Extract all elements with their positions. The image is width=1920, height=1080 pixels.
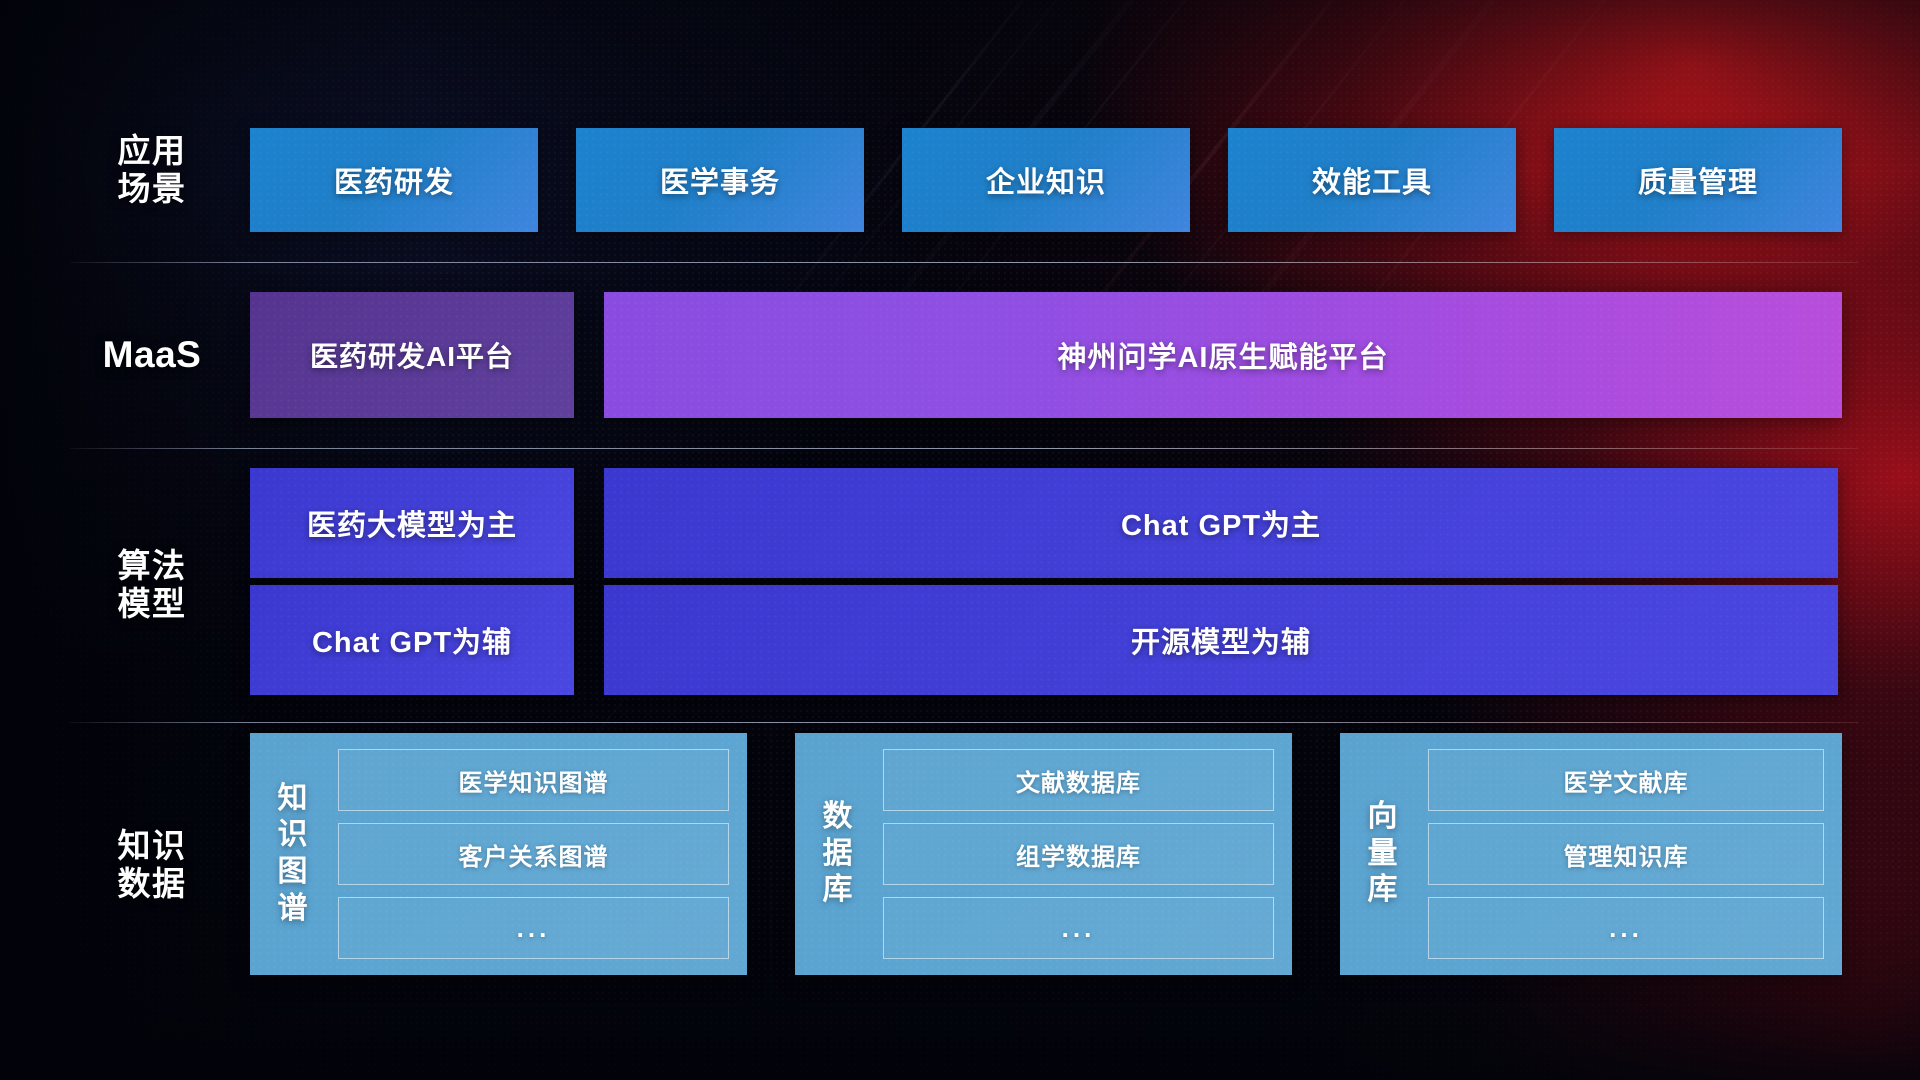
- maas-card-pharma-ai-platform[interactable]: 医药研发AI平台: [250, 292, 574, 418]
- divider-row-2: [70, 448, 1858, 449]
- knowledge-group-graph[interactable]: 知 识 图 谱 医学知识图谱 客户关系图谱 ...: [250, 733, 747, 975]
- knowledge-group-title-char: 图: [278, 854, 309, 891]
- rail-line: 数据: [118, 865, 187, 903]
- app-card-medaffairs[interactable]: 医学事务: [576, 128, 864, 232]
- knowledge-item[interactable]: 医学知识图谱: [338, 749, 729, 811]
- algo-card-label: Chat GPT为主: [1121, 502, 1321, 544]
- rail-algorithm-model: 算法 模型: [84, 500, 220, 670]
- knowledge-group-title-char: 识: [278, 817, 309, 854]
- algo-card-label: Chat GPT为辅: [312, 619, 512, 661]
- knowledge-group-title-char: 据: [823, 836, 854, 873]
- rail-line: 应用: [118, 132, 187, 170]
- knowledge-group-items: 医学知识图谱 客户关系图谱 ...: [338, 749, 729, 959]
- divider-row-1: [70, 262, 1858, 263]
- architecture-diagram: 应用 场景 医药研发 医学事务 企业知识 效能工具 质量管理 MaaS 医药研发…: [0, 0, 1920, 1080]
- knowledge-item[interactable]: 文献数据库: [883, 749, 1274, 811]
- knowledge-group-database[interactable]: 数 据 库 文献数据库 组学数据库 ...: [795, 733, 1292, 975]
- knowledge-group-title-char: 谱: [278, 891, 309, 928]
- app-card-label: 质量管理: [1638, 159, 1758, 201]
- algo-card-label: 开源模型为辅: [1131, 619, 1311, 661]
- rail-line: MaaS: [103, 334, 202, 377]
- knowledge-item-more[interactable]: ...: [1428, 897, 1824, 959]
- rail-knowledge-data: 知识 数据: [84, 790, 220, 940]
- app-card-label: 企业知识: [986, 159, 1106, 201]
- knowledge-item-more[interactable]: ...: [338, 897, 729, 959]
- knowledge-group-items: 医学文献库 管理知识库 ...: [1428, 749, 1824, 959]
- algo-card-pharma-llm-primary[interactable]: 医药大模型为主: [250, 468, 574, 578]
- algo-card-chatgpt-primary[interactable]: Chat GPT为主: [604, 468, 1838, 578]
- maas-card-label: 神州问学AI原生赋能平台: [1057, 334, 1388, 376]
- app-card-rd[interactable]: 医药研发: [250, 128, 538, 232]
- knowledge-group-title: 数 据 库: [809, 749, 867, 959]
- app-card-quality[interactable]: 质量管理: [1554, 128, 1842, 232]
- knowledge-group-items: 文献数据库 组学数据库 ...: [883, 749, 1274, 959]
- rail-maas: MaaS: [84, 310, 220, 400]
- rail-line: 模型: [118, 585, 187, 623]
- app-card-label: 医药研发: [334, 159, 454, 201]
- knowledge-group-title-char: 库: [823, 872, 854, 909]
- algo-card-label: 医药大模型为主: [307, 502, 517, 544]
- algo-card-opensource-secondary[interactable]: 开源模型为辅: [604, 585, 1838, 695]
- knowledge-item[interactable]: 医学文献库: [1428, 749, 1824, 811]
- knowledge-group-vector[interactable]: 向 量 库 医学文献库 管理知识库 ...: [1340, 733, 1842, 975]
- maas-card-label: 医药研发AI平台: [310, 335, 514, 375]
- knowledge-group-title-char: 知: [278, 781, 309, 818]
- knowledge-group-title: 向 量 库: [1354, 749, 1412, 959]
- algo-card-chatgpt-secondary[interactable]: Chat GPT为辅: [250, 585, 574, 695]
- app-card-enterprise[interactable]: 企业知识: [902, 128, 1190, 232]
- maas-card-shenzhou-platform[interactable]: 神州问学AI原生赋能平台: [604, 292, 1842, 418]
- rail-line: 场景: [118, 170, 187, 208]
- knowledge-item[interactable]: 组学数据库: [883, 823, 1274, 885]
- app-card-label: 效能工具: [1312, 159, 1432, 201]
- rail-application-scenarios: 应用 场景: [84, 110, 220, 230]
- divider-row-3: [70, 722, 1858, 723]
- knowledge-item-more[interactable]: ...: [883, 897, 1274, 959]
- app-card-label: 医学事务: [660, 159, 780, 201]
- app-card-efficiency[interactable]: 效能工具: [1228, 128, 1516, 232]
- knowledge-group-title-char: 量: [1368, 836, 1399, 873]
- rail-line: 知识: [118, 827, 187, 865]
- knowledge-item[interactable]: 管理知识库: [1428, 823, 1824, 885]
- knowledge-group-title-char: 库: [1368, 872, 1399, 909]
- knowledge-group-title-char: 向: [1368, 799, 1399, 836]
- knowledge-item[interactable]: 客户关系图谱: [338, 823, 729, 885]
- knowledge-group-title-char: 数: [823, 799, 854, 836]
- knowledge-group-title: 知 识 图 谱: [264, 749, 322, 959]
- rail-line: 算法: [118, 547, 187, 585]
